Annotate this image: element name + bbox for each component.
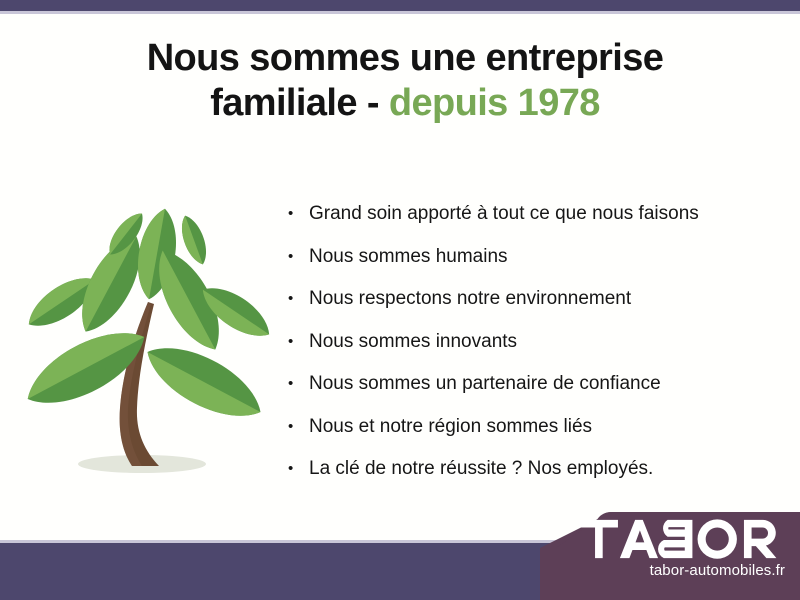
list-item: Grand soin apporté à tout ce que nous fa… <box>288 193 778 236</box>
leaf-lower-right <box>137 331 272 432</box>
title-line-2-plain: familiale - <box>210 82 389 124</box>
tabor-wordmark-icon <box>575 518 785 560</box>
tree-trunk <box>120 302 159 466</box>
top-accent-bar <box>0 0 800 11</box>
list-item: La clé de notre réussite ? Nos employés. <box>288 448 778 491</box>
logo-url: tabor-automobiles.fr <box>575 562 785 579</box>
list-item: Nous sommes humains <box>288 236 778 279</box>
list-item: Nous respectons notre environnement <box>288 278 778 321</box>
list-item: Nous et notre région sommes liés <box>288 406 778 449</box>
value-bullet-list: Grand soin apporté à tout ce que nous fa… <box>288 193 778 491</box>
brand-logo-panel: tabor-automobiles.fr <box>540 512 800 600</box>
top-accent-rule <box>0 11 800 14</box>
logo-text-group: tabor-automobiles.fr <box>575 518 785 579</box>
slide-canvas: Nous sommes une entreprise familiale - d… <box>0 0 800 600</box>
list-item: Nous sommes un partenaire de confiance <box>288 363 778 406</box>
list-item: Nous sommes innovants <box>288 321 778 364</box>
title-line-1: Nous sommes une entreprise <box>60 36 750 81</box>
title-line-2: familiale - depuis 1978 <box>60 81 750 126</box>
title-line-2-accent: depuis 1978 <box>389 82 600 124</box>
tree-icon <box>14 192 276 490</box>
slide-title: Nous sommes une entreprise familiale - d… <box>60 36 750 126</box>
tree-illustration <box>14 192 276 490</box>
